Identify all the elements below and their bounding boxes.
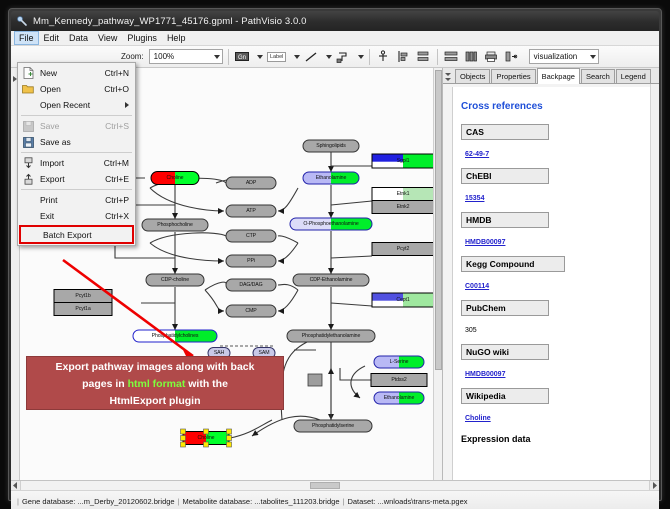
menu-item-import-label: Import: [40, 158, 104, 168]
status-bar-area: | Gene database: ...m_Derby_20120602.bri…: [11, 480, 659, 509]
callout-line-3: HtmlExport plugin: [27, 393, 283, 410]
menu-item-open-recent[interactable]: Open Recent: [18, 97, 135, 113]
save-as-icon: [21, 136, 35, 149]
visualization-value: visualization: [534, 52, 578, 61]
tab-legend[interactable]: Legend: [616, 69, 651, 83]
menu-item-new[interactable]: New Ctrl+N: [18, 65, 135, 81]
menu-item-save-as[interactable]: Save as: [18, 134, 135, 150]
open-recent-spacer-icon: [21, 99, 35, 112]
cross-references-heading: Cross references: [461, 101, 642, 112]
pathvisio-app-icon: [16, 15, 28, 27]
menu-item-print-accel: Ctrl+P: [105, 195, 135, 205]
zoom-label: Zoom:: [121, 52, 144, 61]
menu-data[interactable]: Data: [64, 31, 93, 45]
line-icon[interactable]: [303, 48, 320, 65]
distribute-icon[interactable]: [443, 48, 460, 65]
chevron-down-icon-2: [590, 55, 596, 59]
align-icon[interactable]: [395, 48, 412, 65]
xref-value-chebi[interactable]: 15354: [465, 195, 484, 202]
chevron-down-icon: [214, 55, 220, 59]
horizontal-scrollbar[interactable]: [11, 481, 659, 491]
import-icon: [21, 157, 35, 170]
menu-item-print[interactable]: Print Ctrl+P: [18, 192, 135, 208]
datanode-dropdown-caret[interactable]: [254, 48, 263, 65]
status-dataset-label: Dataset:: [347, 497, 375, 506]
anchor-icon[interactable]: [375, 48, 392, 65]
canvas-vertical-scrollbar[interactable]: [433, 68, 442, 480]
print-menu-spacer-icon: [21, 194, 35, 207]
menu-item-print-label: Print: [40, 195, 105, 205]
export-icon: [21, 173, 35, 186]
callout-line-1: Export pathway images along with back: [27, 359, 283, 376]
xref-header-hmdb: HMDB: [461, 212, 549, 228]
screenshot-root: Mm_Kennedy_pathway_WP1771_45176.gpml - P…: [0, 0, 670, 509]
menu-item-open-recent-label: Open Recent: [40, 100, 125, 110]
status-gene-db-label: Gene database:: [22, 497, 75, 506]
new-document-icon: [21, 67, 35, 80]
interaction-icon[interactable]: [335, 48, 352, 65]
stack-icon[interactable]: [415, 48, 432, 65]
xref-header-chebi: ChEBI: [461, 168, 549, 184]
menu-item-exit-label: Exit: [40, 211, 105, 221]
xref-header-cas: CAS: [461, 124, 549, 140]
zoom-combo[interactable]: 100%: [149, 49, 223, 64]
xref-value-hmdb[interactable]: HMDB00097: [465, 239, 505, 246]
tab-search[interactable]: Search: [581, 69, 615, 83]
callout-line-2b: with the: [185, 378, 228, 390]
svg-text:Gn: Gn: [238, 55, 246, 61]
menu-item-export[interactable]: Export Ctrl+E: [18, 171, 135, 187]
layer-icon[interactable]: [503, 48, 520, 65]
group-icon[interactable]: [463, 48, 480, 65]
menu-item-new-accel: Ctrl+N: [105, 68, 135, 78]
batch-export-spacer-icon: [24, 228, 38, 241]
menu-view[interactable]: View: [93, 31, 122, 45]
menu-item-open-label: Open: [40, 84, 104, 94]
menu-item-save-label: Save: [40, 121, 105, 131]
menu-separator-1: [21, 115, 132, 116]
xref-value-cas[interactable]: 62-49-7: [465, 151, 489, 158]
menu-item-open-accel: Ctrl+O: [104, 84, 135, 94]
tab-properties[interactable]: Properties: [491, 69, 535, 83]
print-icon[interactable]: [483, 48, 500, 65]
menu-item-batch-export[interactable]: Batch Export: [21, 227, 132, 242]
side-panel: Objects Properties Backpage Search Legen…: [443, 68, 659, 480]
interaction-dropdown-caret[interactable]: [355, 48, 364, 65]
scrollbar-thumb[interactable]: [310, 482, 340, 489]
toolbar-separator-2: [369, 49, 370, 65]
tab-backpage[interactable]: Backpage: [537, 68, 580, 84]
file-menu-dropdown[interactable]: New Ctrl+N Open Ctrl+O Open Recent: [17, 62, 136, 246]
xref-header-pubchem: PubChem: [461, 300, 549, 316]
title-bar: Mm_Kennedy_pathway_WP1771_45176.gpml - P…: [11, 11, 659, 31]
xref-value-wikipedia[interactable]: Choline: [465, 415, 491, 422]
label-dropdown-caret[interactable]: [291, 48, 300, 65]
panel-grip-icon[interactable]: [444, 70, 451, 84]
menu-file[interactable]: File: [14, 31, 39, 45]
tab-objects[interactable]: Objects: [455, 69, 490, 83]
annotation-callout: Export pathway images along with back pa…: [26, 356, 284, 410]
status-metabolite-db-value: ...tabolites_111203.bridge: [254, 497, 339, 506]
zoom-value: 100%: [154, 52, 174, 61]
menu-item-save-as-label: Save as: [40, 137, 129, 147]
side-panel-tabstrip[interactable]: Objects Properties Backpage Search Legen…: [443, 68, 659, 84]
menu-item-export-label: Export: [40, 174, 105, 184]
menu-item-save: Save Ctrl+S: [18, 118, 135, 134]
xref-header-wikipedia: Wikipedia: [461, 388, 549, 404]
side-panel-scrollbar[interactable]: [650, 84, 659, 480]
expression-data-heading: Expression data: [461, 434, 642, 444]
status-metabolite-db-label: Metabolite database:: [183, 497, 253, 506]
menu-item-import[interactable]: Import Ctrl+M: [18, 155, 135, 171]
status-bar: | Gene database: ...m_Derby_20120602.bri…: [11, 491, 659, 509]
xref-header-kegg: Kegg Compound: [461, 256, 565, 272]
label-tool-label: Label: [267, 52, 286, 62]
window-title: Mm_Kennedy_pathway_WP1771_45176.gpml - P…: [33, 16, 307, 27]
xref-header-nugo: NuGO wiki: [461, 344, 549, 360]
toolbar-separator-3: [437, 49, 438, 65]
menu-help[interactable]: Help: [162, 31, 191, 45]
callout-line-2: pages in html format with the: [27, 376, 283, 393]
submenu-arrow-icon: [125, 102, 129, 108]
menu-separator-2: [21, 152, 132, 153]
xref-value-pubchem: 305: [465, 327, 477, 334]
menu-item-open[interactable]: Open Ctrl+O: [18, 81, 135, 97]
menu-item-save-accel: Ctrl+S: [105, 121, 135, 131]
menu-item-exit-accel: Ctrl+X: [105, 211, 135, 221]
callout-highlight: html format: [128, 378, 186, 390]
exit-menu-spacer-icon: [21, 210, 35, 223]
menu-item-batch-export-label: Batch Export: [43, 230, 132, 240]
menu-edit[interactable]: Edit: [39, 31, 65, 45]
xref-value-nugo[interactable]: HMDB00097: [465, 371, 505, 378]
toolbar-separator: [228, 49, 229, 65]
menu-bar[interactable]: File Edit Data View Plugins Help: [11, 31, 659, 46]
menu-plugins[interactable]: Plugins: [122, 31, 162, 45]
label-tool-icon[interactable]: Label: [266, 48, 288, 65]
menu-item-import-accel: Ctrl+M: [104, 158, 135, 168]
status-gene-db-value: ...m_Derby_20120602.bridge: [77, 497, 174, 506]
xref-value-kegg[interactable]: C00114: [465, 283, 489, 290]
callout-line-2a: pages in: [82, 378, 128, 390]
menu-item-batch-export-highlight: Batch Export: [19, 225, 134, 244]
menu-item-exit[interactable]: Exit Ctrl+X: [18, 208, 135, 224]
line-dropdown-caret[interactable]: [323, 48, 332, 65]
save-disk-icon: [21, 120, 35, 133]
open-folder-icon: [21, 83, 35, 96]
menu-item-export-accel: Ctrl+E: [105, 174, 135, 184]
datanode-icon[interactable]: Gn: [234, 48, 251, 65]
backpage-content: Cross references CAS 62-49-7 ChEBI 15354…: [452, 87, 650, 480]
menu-separator-3: [21, 189, 132, 190]
menu-item-new-label: New: [40, 68, 105, 78]
application-window: Mm_Kennedy_pathway_WP1771_45176.gpml - P…: [8, 8, 662, 501]
visualization-combo[interactable]: visualization: [529, 49, 599, 64]
scroll-right-arrow-icon[interactable]: [649, 481, 659, 490]
scroll-left-arrow-icon[interactable]: [11, 481, 21, 490]
status-dataset-value: ...wnloads\trans-meta.pgex: [377, 497, 467, 506]
